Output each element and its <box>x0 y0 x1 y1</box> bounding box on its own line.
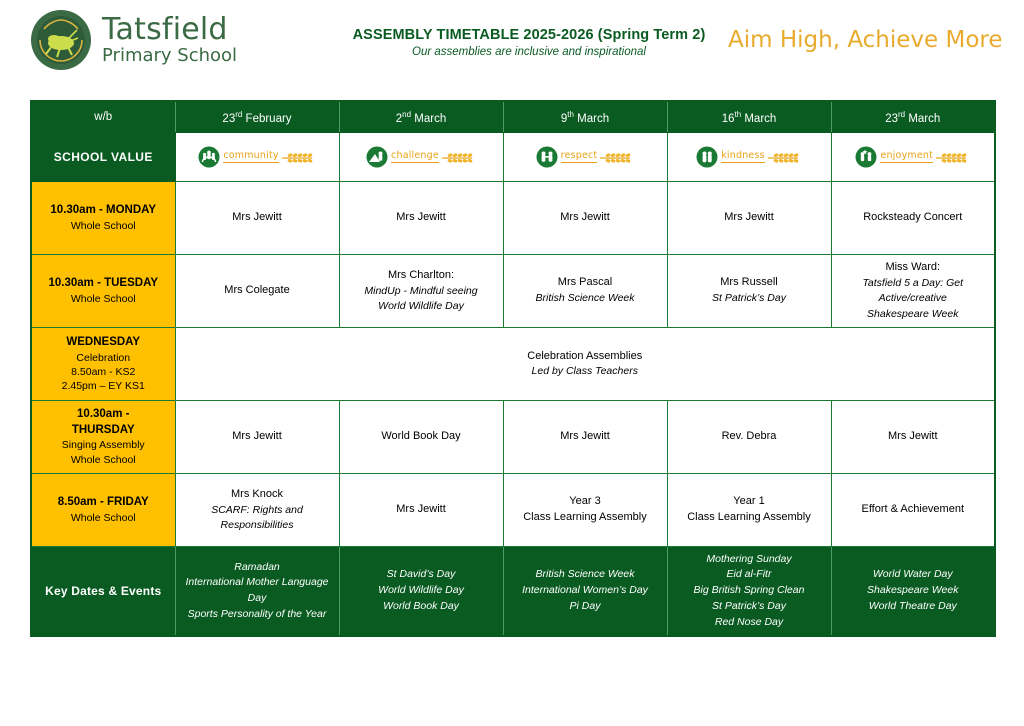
date-header-row: w/b23rd February2nd March9th March16th M… <box>31 101 995 133</box>
grasshopper-crest-icon <box>30 9 92 71</box>
key-date-item: Big British Spring Clean <box>672 583 827 599</box>
key-date-item: International Mother Language Day <box>180 575 335 607</box>
cell-line: Celebration Assemblies <box>180 348 991 365</box>
timetable-row: 10.30am -THURSDAYSinging AssemblyWhole S… <box>31 401 995 474</box>
cell-line: Mrs Jewitt <box>672 210 827 226</box>
assembly-cell: Rev. Debra <box>667 401 831 474</box>
cell-line: Year 1 <box>672 494 827 510</box>
key-date-item: World Water Day <box>836 567 991 583</box>
day-label-line: Singing Assembly <box>36 438 171 452</box>
day-label-cell: 10.30am -THURSDAYSinging AssemblyWhole S… <box>31 401 175 474</box>
cell-line: Mrs Jewitt <box>508 429 663 445</box>
assembly-cell: Mrs Jewitt <box>339 474 503 547</box>
cell-line: Mrs Knock <box>180 487 335 503</box>
cell-line: MindUp - Mindful seeing <box>344 284 499 299</box>
assembly-cell: Mrs RussellSt Patrick’s Day <box>667 255 831 328</box>
school-branding: Tatsfield Primary School <box>30 9 330 71</box>
key-date-item: Pi Day <box>508 599 663 615</box>
cell-line: Year 3 <box>508 494 663 510</box>
timetable-page: Tatsfield Primary School ASSEMBLY TIMETA… <box>0 0 1024 726</box>
cell-line: SCARF: Rights and Responsibilities <box>180 503 335 533</box>
day-label-line: Whole School <box>36 292 171 306</box>
key-dates-cell-4: Mothering SundayEid al-FitrBig British S… <box>667 547 831 637</box>
key-date-item: World Wildlife Day <box>344 583 499 599</box>
date-header-5: 23rd March <box>831 101 995 133</box>
timetable-row: 10.30am - TUESDAYWhole SchoolMrs Colegat… <box>31 255 995 328</box>
day-label-line: 10.30am - TUESDAY <box>36 276 171 292</box>
cell-line: Rocksteady Concert <box>836 210 991 226</box>
school-motto: Aim High, Achieve More <box>728 27 1000 53</box>
school-value-name: kindness <box>721 151 765 163</box>
date-header-4: 16th March <box>667 101 831 133</box>
cell-line: Led by Class Teachers <box>180 364 991 380</box>
cell-line: Mrs Jewitt <box>508 210 663 226</box>
wheat-icon <box>936 151 970 163</box>
assembly-cell: Mrs PascalBritish Science Week <box>503 255 667 328</box>
assembly-cell: Mrs Jewitt <box>667 182 831 255</box>
key-dates-cell-3: British Science WeekInternational Women’… <box>503 547 667 637</box>
school-value-cell-1: community <box>175 133 339 182</box>
key-date-item: Eid al-Fitr <box>672 567 827 583</box>
school-value-cell-4: kindness <box>667 133 831 182</box>
cell-line: St Patrick’s Day <box>672 291 827 306</box>
cell-line: Mrs Charlton: <box>344 268 499 284</box>
day-label-line: THURSDAY <box>36 423 171 439</box>
page-subtitle: Our assemblies are inclusive and inspira… <box>330 46 728 58</box>
kindness-value-icon <box>696 146 718 168</box>
assembly-cell: Mrs Jewitt <box>339 182 503 255</box>
cell-line: Mrs Jewitt <box>180 429 335 445</box>
corner-label: w/b <box>31 101 175 133</box>
assembly-cell: Miss Ward:Tatsfield 5 a Day: GetActive/c… <box>831 255 995 328</box>
school-value-label: SCHOOL VALUE <box>31 133 175 182</box>
assembly-cell: Mrs Jewitt <box>503 401 667 474</box>
assembly-cell: Mrs Colegate <box>175 255 339 328</box>
cell-line: World Wildlife Day <box>344 299 499 314</box>
cell-line: Class Learning Assembly <box>672 510 827 526</box>
key-date-item: St David’s Day <box>344 567 499 583</box>
cell-line: Miss Ward: <box>836 260 991 276</box>
day-label-line: 8.50am - FRIDAY <box>36 495 171 511</box>
day-label-line: WEDNESDAY <box>36 335 171 351</box>
cell-line: Active/creative <box>836 291 991 306</box>
cell-line: Mrs Jewitt <box>344 210 499 226</box>
key-date-item: Mothering Sunday <box>672 552 827 568</box>
assembly-cell: Effort & Achievement <box>831 474 995 547</box>
cell-line: Tatsfield 5 a Day: Get <box>836 276 991 291</box>
assembly-cell: Mrs Jewitt <box>175 401 339 474</box>
wheat-icon <box>768 151 802 163</box>
day-label-line: Whole School <box>36 453 171 467</box>
wheat-icon <box>600 151 634 163</box>
key-date-item: British Science Week <box>508 567 663 583</box>
key-dates-cell-2: St David’s DayWorld Wildlife DayWorld Bo… <box>339 547 503 637</box>
key-date-item: World Book Day <box>344 599 499 615</box>
date-header-1: 23rd February <box>175 101 339 133</box>
school-value-cell-2: challenge <box>339 133 503 182</box>
cell-line: Effort & Achievement <box>836 502 991 518</box>
assembly-cell: Mrs Charlton:MindUp - Mindful seeingWorl… <box>339 255 503 328</box>
key-date-item: Sports Personality of the Year <box>180 607 335 623</box>
timetable-wrapper: w/b23rd February2nd March9th March16th M… <box>30 100 994 637</box>
cell-line: Mrs Jewitt <box>344 502 499 518</box>
page-title: ASSEMBLY TIMETABLE 2025-2026 (Spring Ter… <box>330 27 728 43</box>
assembly-cell: Mrs Jewitt <box>175 182 339 255</box>
key-date-item: Ramadan <box>180 560 335 576</box>
key-date-item: Red Nose Day <box>672 615 827 631</box>
cell-line: World Book Day <box>344 429 499 445</box>
key-date-item: International Women’s Day <box>508 583 663 599</box>
assembly-timetable: w/b23rd February2nd March9th March16th M… <box>30 100 996 637</box>
assembly-cell: Mrs Jewitt <box>503 182 667 255</box>
challenge-value-icon <box>366 146 388 168</box>
page-header: Tatsfield Primary School ASSEMBLY TIMETA… <box>0 0 1024 72</box>
title-block: ASSEMBLY TIMETABLE 2025-2026 (Spring Ter… <box>330 23 728 58</box>
day-label-line: Celebration <box>36 351 171 365</box>
day-label-line: Whole School <box>36 219 171 233</box>
school-value-name: challenge <box>391 151 439 163</box>
school-name: Tatsfield <box>102 15 237 45</box>
cell-line: Shakespeare Week <box>836 307 991 322</box>
key-dates-label: Key Dates & Events <box>31 547 175 637</box>
day-label-cell: 8.50am - FRIDAYWhole School <box>31 474 175 547</box>
cell-line: Mrs Jewitt <box>836 429 991 445</box>
key-date-item: St Patrick’s Day <box>672 599 827 615</box>
school-subtitle: Primary School <box>102 47 237 65</box>
day-label-line: 2.45pm – EY KS1 <box>36 379 171 393</box>
assembly-cell: Year 1Class Learning Assembly <box>667 474 831 547</box>
assembly-cell: Year 3Class Learning Assembly <box>503 474 667 547</box>
day-label-line: Whole School <box>36 511 171 525</box>
school-value-cell-3: respect <box>503 133 667 182</box>
cell-line: Rev. Debra <box>672 429 827 445</box>
enjoyment-value-icon <box>855 146 877 168</box>
school-value-name: community <box>223 151 278 163</box>
key-date-item: World Theatre Day <box>836 599 991 615</box>
key-dates-cell-1: RamadanInternational Mother Language Day… <box>175 547 339 637</box>
key-dates-cell-5: World Water DayShakespeare WeekWorld The… <box>831 547 995 637</box>
assembly-cell: Mrs KnockSCARF: Rights and Responsibilit… <box>175 474 339 547</box>
wheat-icon <box>442 151 476 163</box>
key-date-item: Shakespeare Week <box>836 583 991 599</box>
assembly-cell: Mrs Jewitt <box>831 401 995 474</box>
key-dates-row: Key Dates & EventsRamadanInternational M… <box>31 547 995 637</box>
timetable-body: w/b23rd February2nd March9th March16th M… <box>31 101 995 636</box>
assembly-cell: World Book Day <box>339 401 503 474</box>
timetable-row: 10.30am - MONDAYWhole SchoolMrs JewittMr… <box>31 182 995 255</box>
cell-line: Mrs Jewitt <box>180 210 335 226</box>
date-header-3: 9th March <box>503 101 667 133</box>
cell-line: Mrs Pascal <box>508 275 663 291</box>
respect-value-icon <box>536 146 558 168</box>
date-header-2: 2nd March <box>339 101 503 133</box>
day-label-line: 8.50am - KS2 <box>36 365 171 379</box>
cell-line: Mrs Russell <box>672 275 827 291</box>
timetable-row: WEDNESDAYCelebration8.50am - KS22.45pm –… <box>31 328 995 401</box>
merged-assembly-cell: Celebration AssembliesLed by Class Teach… <box>175 328 995 401</box>
timetable-row: 8.50am - FRIDAYWhole SchoolMrs KnockSCAR… <box>31 474 995 547</box>
school-value-name: respect <box>561 151 598 163</box>
day-label-cell: 10.30am - MONDAYWhole School <box>31 182 175 255</box>
school-value-name: enjoyment <box>880 151 933 163</box>
day-label-line: 10.30am - <box>36 407 171 423</box>
day-label-cell: 10.30am - TUESDAYWhole School <box>31 255 175 328</box>
day-label-line: 10.30am - MONDAY <box>36 203 171 219</box>
school-value-cell-5: enjoyment <box>831 133 995 182</box>
cell-line: Class Learning Assembly <box>508 510 663 526</box>
community-value-icon <box>198 146 220 168</box>
assembly-cell: Rocksteady Concert <box>831 182 995 255</box>
day-label-cell: WEDNESDAYCelebration8.50am - KS22.45pm –… <box>31 328 175 401</box>
wheat-icon <box>282 151 316 163</box>
cell-line: Mrs Colegate <box>180 283 335 299</box>
school-value-row: SCHOOL VALUEcommunitychallengerespectkin… <box>31 133 995 182</box>
cell-line: British Science Week <box>508 291 663 306</box>
